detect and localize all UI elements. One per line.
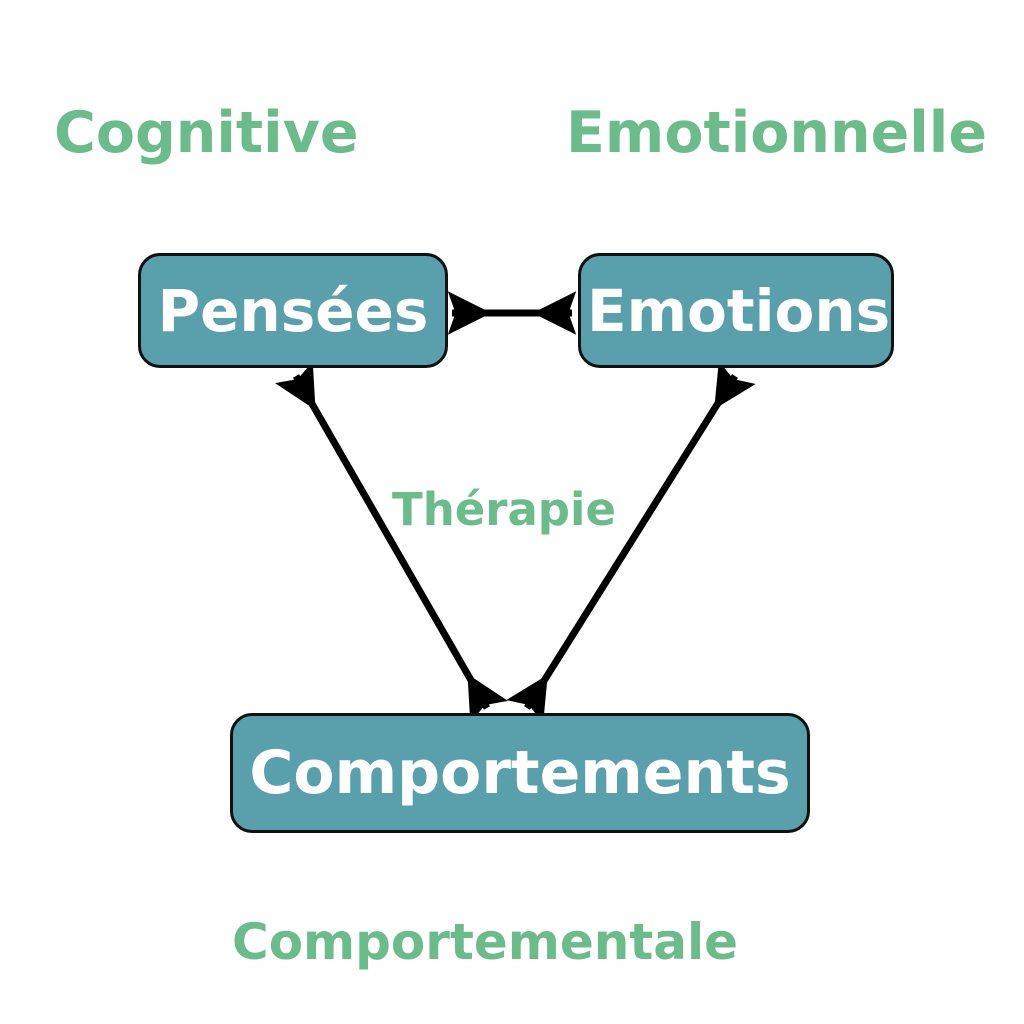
node-emotions-label: Emotions <box>587 282 890 340</box>
category-label-comportementale: Comportementale <box>232 917 738 967</box>
category-label-cognitive: Cognitive <box>54 105 359 162</box>
node-pensees-label: Pensées <box>158 282 429 340</box>
node-pensees[interactable]: Pensées <box>138 253 448 368</box>
node-comportements-label: Comportements <box>249 743 790 803</box>
center-label-therapie: Thérapie <box>392 487 616 532</box>
edge-pensees-comportements <box>296 376 487 708</box>
category-label-emotionnelle: Emotionnelle <box>566 105 987 162</box>
diagram-canvas: Cognitive Emotionnelle Comportementale T… <box>0 0 1024 1024</box>
node-emotions[interactable]: Emotions <box>578 253 894 368</box>
node-comportements[interactable]: Comportements <box>230 713 810 833</box>
edge-emotions-comportements <box>527 376 735 708</box>
